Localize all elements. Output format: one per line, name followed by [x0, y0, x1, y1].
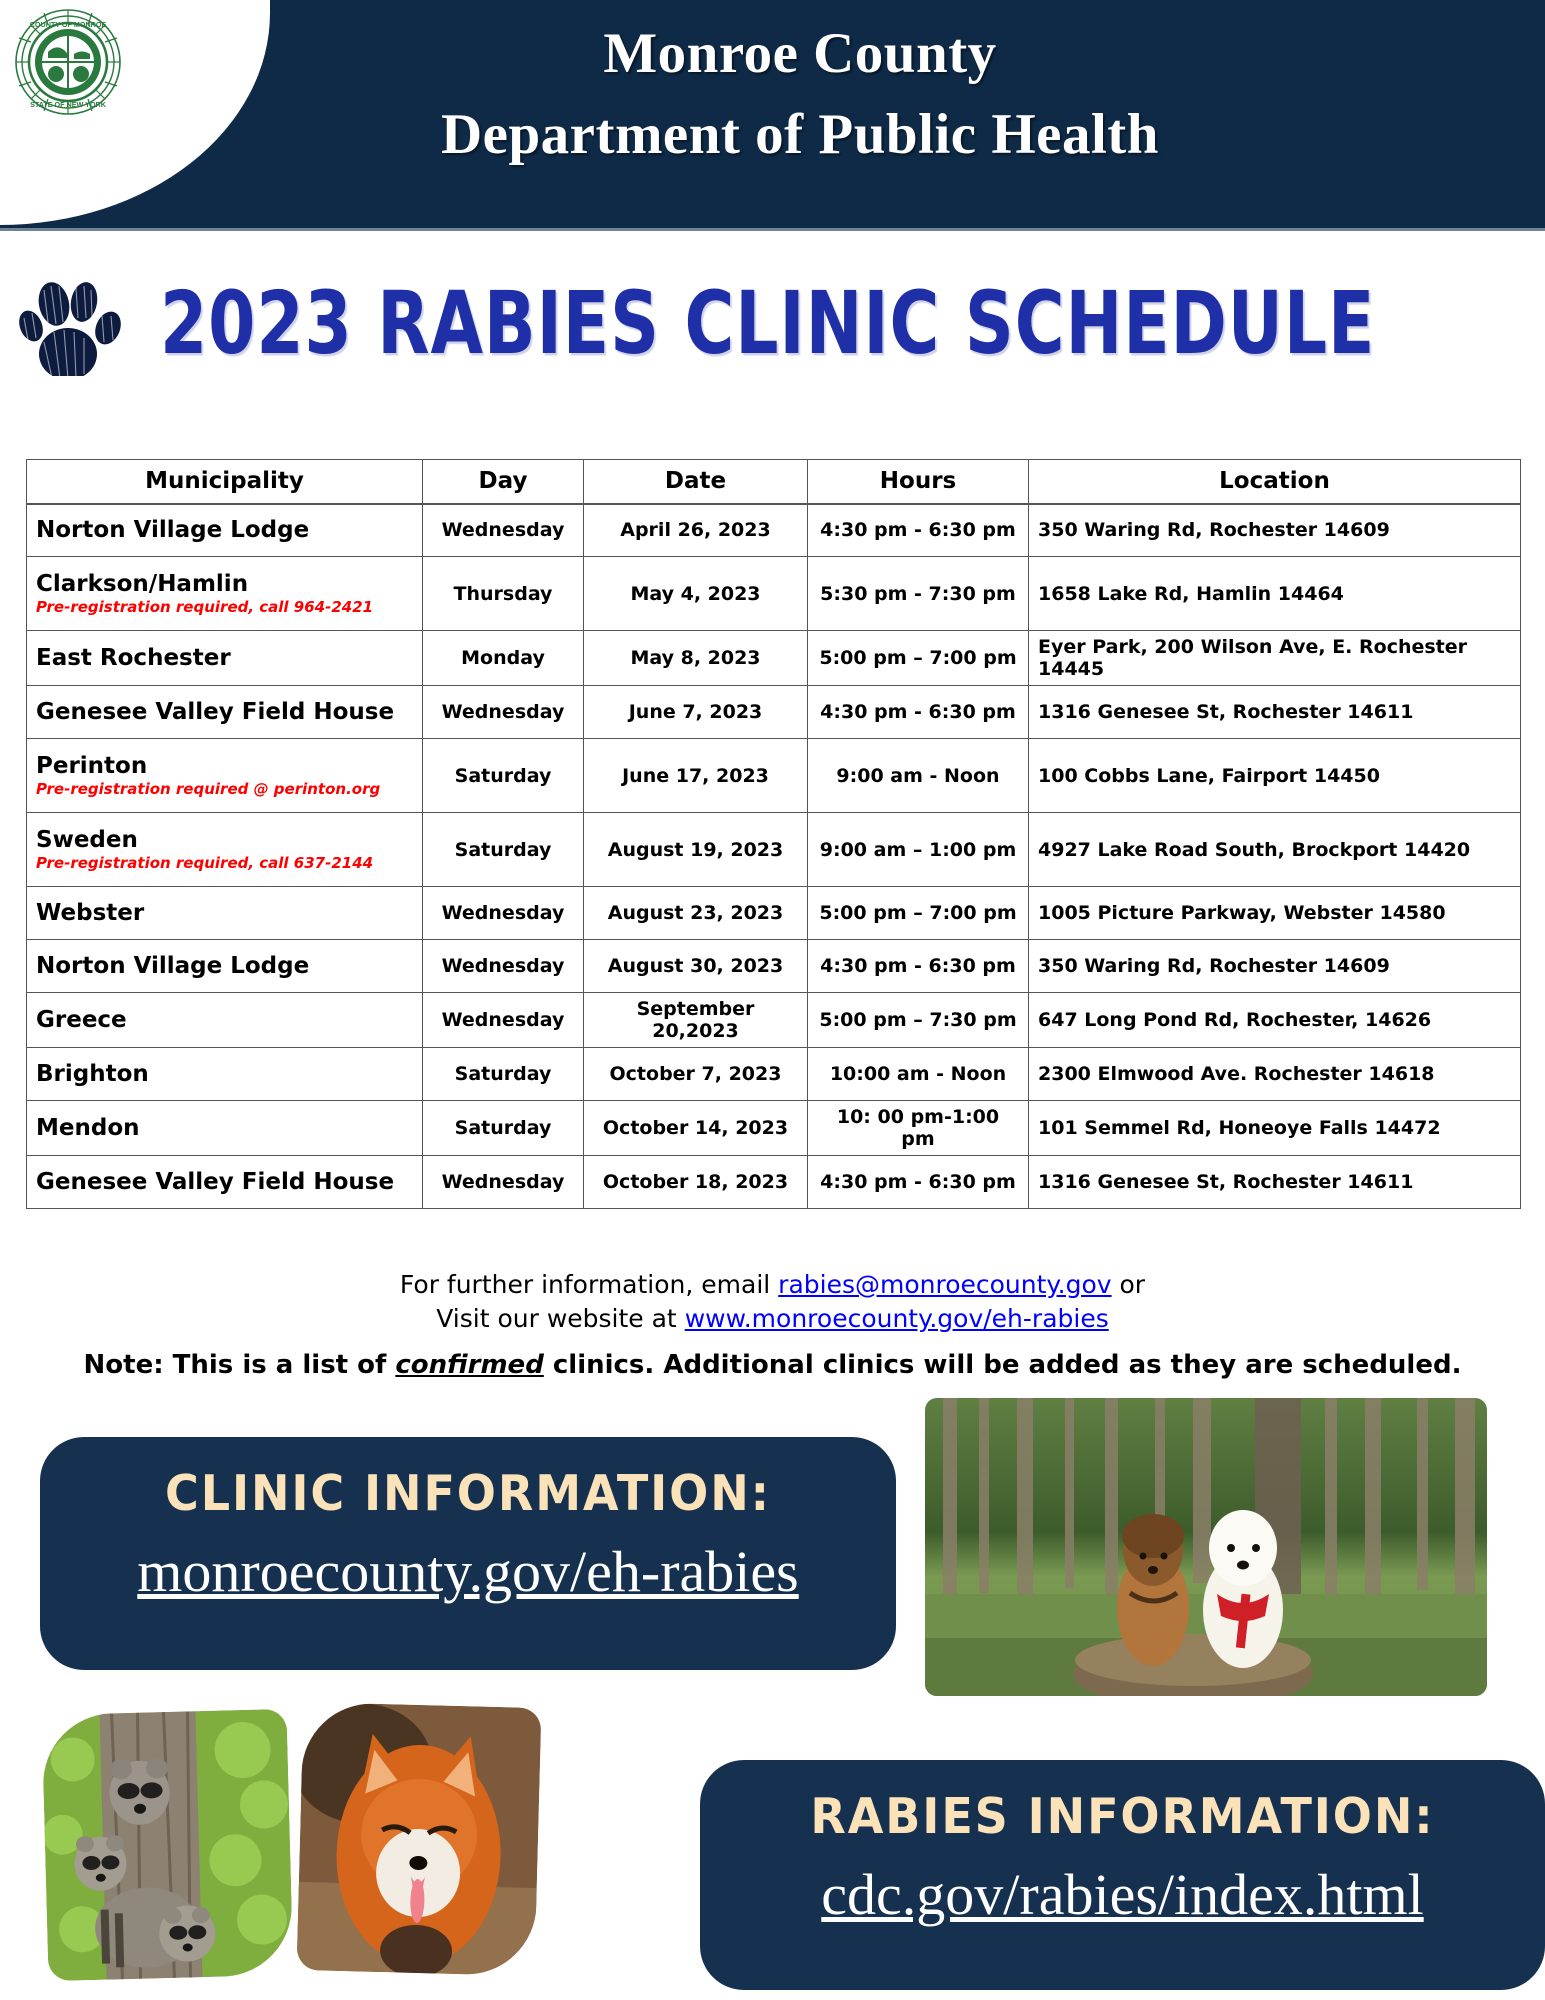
municipality-name: Greece [36, 1007, 413, 1033]
cell-day: Saturday [423, 1048, 584, 1101]
monroe-county-seal-icon: COUNTY OF MONROE STATE OF NEW YORK [14, 8, 122, 116]
municipality-name: Norton Village Lodge [36, 953, 413, 979]
cell-municipality: PerintonPre-registration required @ peri… [27, 739, 423, 813]
table-header-row: Municipality Day Date Hours Location [27, 460, 1521, 504]
contact-information: For further information, email rabies@mo… [0, 1268, 1545, 1336]
cell-location: 647 Long Pond Rd, Rochester, 14626 [1029, 993, 1521, 1048]
cell-municipality: Clarkson/HamlinPre-registration required… [27, 557, 423, 631]
two-dogs-photo [925, 1398, 1487, 1696]
cell-day: Monday [423, 631, 584, 686]
cell-hours: 10:00 am - Noon [808, 1048, 1029, 1101]
municipality-name: Clarkson/Hamlin [36, 571, 413, 597]
municipality-name: Genesee Valley Field House [36, 699, 413, 725]
cell-location: 4927 Lake Road South, Brockport 14420 [1029, 813, 1521, 887]
cell-location: 100 Cobbs Lane, Fairport 14450 [1029, 739, 1521, 813]
table-row: WebsterWednesdayAugust 23, 20235:00 pm –… [27, 887, 1521, 940]
cell-municipality: Genesee Valley Field House [27, 1156, 423, 1209]
table-row: Norton Village LodgeWednesdayApril 26, 2… [27, 504, 1521, 557]
municipality-name: Sweden [36, 827, 413, 853]
cell-municipality: Greece [27, 993, 423, 1048]
clinic-information-heading: CLINIC INFORMATION: [66, 1465, 871, 1522]
cell-municipality: Genesee Valley Field House [27, 686, 423, 739]
column-header-date: Date [584, 460, 808, 504]
preregistration-note: Pre-registration required @ perinton.org [36, 780, 413, 798]
clinic-information-box[interactable]: CLINIC INFORMATION: monroecounty.gov/eh-… [40, 1437, 896, 1670]
table-row: BrightonSaturdayOctober 7, 202310:00 am … [27, 1048, 1521, 1101]
cell-location: 1005 Picture Parkway, Webster 14580 [1029, 887, 1521, 940]
municipality-name: Brighton [36, 1061, 413, 1087]
cell-location: 1658 Lake Rd, Hamlin 14464 [1029, 557, 1521, 631]
cell-municipality: Norton Village Lodge [27, 940, 423, 993]
cell-day: Wednesday [423, 686, 584, 739]
page-title: 2023 RABIES CLINIC SCHEDULE [160, 274, 1375, 374]
cell-date: August 19, 2023 [584, 813, 808, 887]
paw-print-icon [18, 280, 136, 376]
clinic-information-url[interactable]: monroecounty.gov/eh-rabies [40, 1538, 896, 1605]
municipality-name: Norton Village Lodge [36, 517, 413, 543]
header-title-line2: Department of Public Health [150, 95, 1450, 176]
cell-location: 2300 Elmwood Ave. Rochester 14618 [1029, 1048, 1521, 1101]
header-title-line1: Monroe County [603, 22, 996, 85]
cell-hours: 5:30 pm - 7:30 pm [808, 557, 1029, 631]
column-header-municipality: Municipality [27, 460, 423, 504]
cell-hours: 5:00 pm – 7:00 pm [808, 887, 1029, 940]
cell-day: Saturday [423, 813, 584, 887]
cell-municipality: SwedenPre-registration required, call 63… [27, 813, 423, 887]
preregistration-note: Pre-registration required, call 964-2421 [36, 598, 413, 616]
cell-day: Wednesday [423, 1156, 584, 1209]
cell-date: September 20,2023 [584, 993, 808, 1048]
seal-text-bottom: STATE OF NEW YORK [30, 100, 107, 109]
cell-municipality: Mendon [27, 1101, 423, 1156]
cell-date: June 7, 2023 [584, 686, 808, 739]
table-row: SwedenPre-registration required, call 63… [27, 813, 1521, 887]
page-header-band: COUNTY OF MONROE STATE OF NEW YORK Monro… [0, 0, 1545, 228]
cell-location: Eyer Park, 200 Wilson Ave, E. Rochester … [1029, 631, 1521, 686]
municipality-name: Webster [36, 900, 413, 926]
cell-hours: 9:00 am – 1:00 pm [808, 813, 1029, 887]
cell-day: Wednesday [423, 887, 584, 940]
schedule-title-row: 2023 RABIES CLINIC SCHEDULE [0, 278, 1545, 378]
cell-day: Wednesday [423, 504, 584, 557]
contact-line-website: Visit our website at www.monroecounty.go… [0, 1302, 1545, 1336]
cell-day: Saturday [423, 1101, 584, 1156]
cell-municipality: Brighton [27, 1048, 423, 1101]
contact-line1-pre: For further information, email [400, 1270, 778, 1299]
cell-day: Thursday [423, 557, 584, 631]
cell-hours: 5:00 pm – 7:30 pm [808, 993, 1029, 1048]
contact-line-email: For further information, email rabies@mo… [0, 1268, 1545, 1302]
cell-date: May 4, 2023 [584, 557, 808, 631]
contact-line1-post: or [1112, 1270, 1146, 1299]
table-row: GreeceWednesdaySeptember 20,20235:00 pm … [27, 993, 1521, 1048]
note-pre: Note: This is a list of [84, 1350, 396, 1380]
rabies-information-box[interactable]: RABIES INFORMATION: cdc.gov/rabies/index… [700, 1760, 1545, 1990]
cell-hours: 4:30 pm - 6:30 pm [808, 1156, 1029, 1209]
preregistration-note: Pre-registration required, call 637-2144 [36, 854, 413, 872]
table-row: Norton Village LodgeWednesdayAugust 30, … [27, 940, 1521, 993]
table-row: PerintonPre-registration required @ peri… [27, 739, 1521, 813]
column-header-location: Location [1029, 460, 1521, 504]
seal-text-top: COUNTY OF MONROE [30, 20, 107, 29]
rabies-information-heading: RABIES INFORMATION: [725, 1788, 1519, 1845]
municipality-name: Genesee Valley Field House [36, 1169, 413, 1195]
header-divider [0, 228, 1545, 231]
cell-location: 350 Waring Rd, Rochester 14609 [1029, 504, 1521, 557]
table-row: Genesee Valley Field HouseWednesdayOctob… [27, 1156, 1521, 1209]
cell-location: 1316 Genesee St, Rochester 14611 [1029, 686, 1521, 739]
cell-date: August 30, 2023 [584, 940, 808, 993]
cell-day: Wednesday [423, 940, 584, 993]
cell-date: June 17, 2023 [584, 739, 808, 813]
cell-hours: 10: 00 pm-1:00 pm [808, 1101, 1029, 1156]
cell-hours: 5:00 pm – 7:00 pm [808, 631, 1029, 686]
cell-location: 350 Waring Rd, Rochester 14609 [1029, 940, 1521, 993]
cell-municipality: East Rochester [27, 631, 423, 686]
municipality-name: East Rochester [36, 645, 413, 671]
cell-date: October 14, 2023 [584, 1101, 808, 1156]
rabies-clinic-schedule-table: Municipality Day Date Hours Location Nor… [26, 459, 1521, 1209]
monroecounty-website-link[interactable]: www.monroecounty.gov/eh-rabies [685, 1304, 1109, 1333]
cell-municipality: Webster [27, 887, 423, 940]
cell-date: April 26, 2023 [584, 504, 808, 557]
cell-location: 101 Semmel Rd, Honeoye Falls 14472 [1029, 1101, 1521, 1156]
municipality-name: Mendon [36, 1115, 413, 1141]
table-row: Genesee Valley Field HouseWednesdayJune … [27, 686, 1521, 739]
cell-date: October 7, 2023 [584, 1048, 808, 1101]
municipality-name: Perinton [36, 753, 413, 779]
column-header-hours: Hours [808, 460, 1029, 504]
rabies-information-url[interactable]: cdc.gov/rabies/index.html [700, 1861, 1545, 1928]
cell-hours: 4:30 pm - 6:30 pm [808, 940, 1029, 993]
cell-hours: 4:30 pm - 6:30 pm [808, 686, 1029, 739]
cell-hours: 9:00 am - Noon [808, 739, 1029, 813]
table-row: East RochesterMondayMay 8, 20235:00 pm –… [27, 631, 1521, 686]
contact-line2-pre: Visit our website at [436, 1304, 684, 1333]
cell-date: August 23, 2023 [584, 887, 808, 940]
cell-day: Saturday [423, 739, 584, 813]
red-fox-photo [297, 1702, 542, 1976]
table-row: Clarkson/HamlinPre-registration required… [27, 557, 1521, 631]
cell-hours: 4:30 pm - 6:30 pm [808, 504, 1029, 557]
raccoon-family-photo [42, 1709, 294, 1981]
page-title-header: Monroe County Department of Public Healt… [150, 14, 1450, 176]
cell-day: Wednesday [423, 993, 584, 1048]
confirmed-clinics-note: Note: This is a list of confirmed clinic… [0, 1350, 1545, 1380]
cell-municipality: Norton Village Lodge [27, 504, 423, 557]
column-header-day: Day [423, 460, 584, 504]
cell-date: October 18, 2023 [584, 1156, 808, 1209]
rabies-email-link[interactable]: rabies@monroecounty.gov [778, 1270, 1111, 1299]
table-row: MendonSaturdayOctober 14, 202310: 00 pm-… [27, 1101, 1521, 1156]
note-emphasis: confirmed [395, 1350, 543, 1380]
cell-date: May 8, 2023 [584, 631, 808, 686]
cell-location: 1316 Genesee St, Rochester 14611 [1029, 1156, 1521, 1209]
note-post: clinics. Additional clinics will be adde… [544, 1350, 1462, 1380]
